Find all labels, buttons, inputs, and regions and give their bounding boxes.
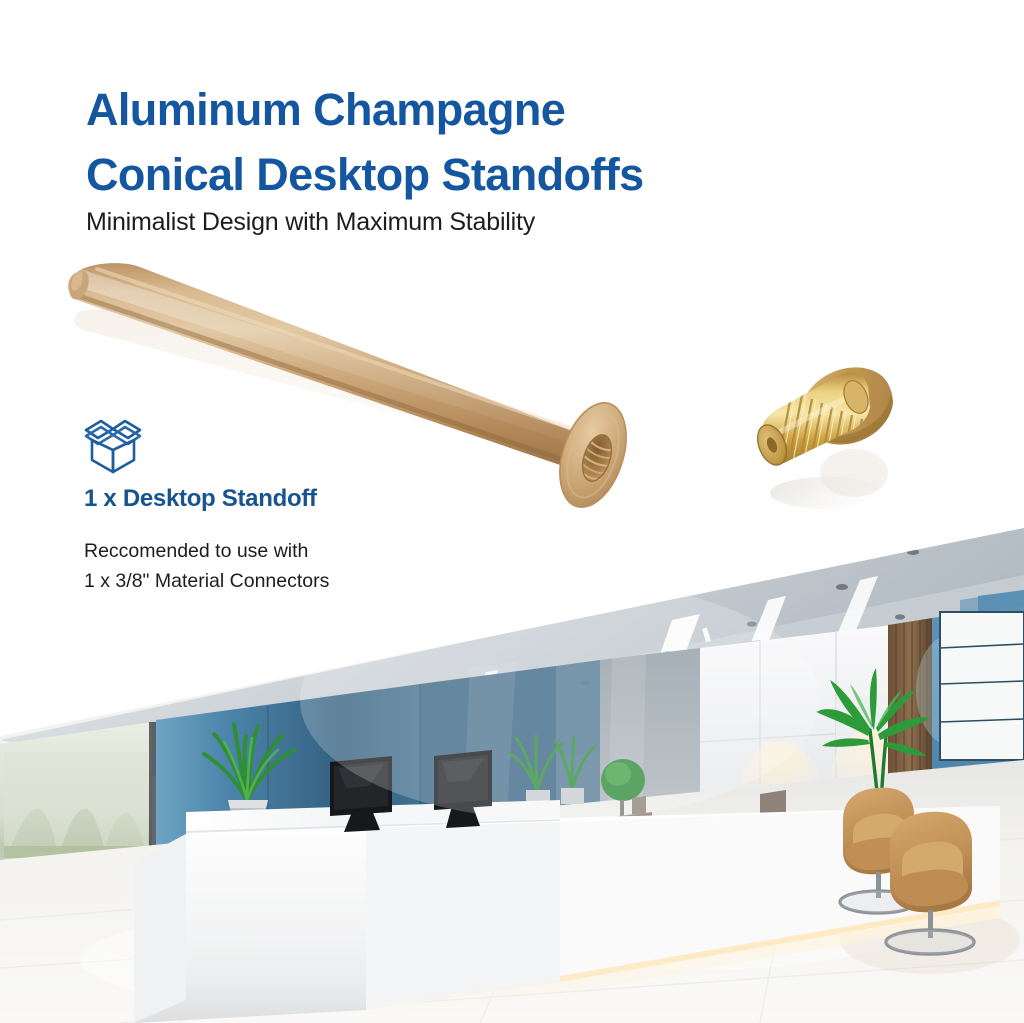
- headline-line-1: Aluminum Champagne: [86, 78, 826, 143]
- open-box-icon: [82, 417, 144, 475]
- kit-note-line-1: Reccomended to use with: [84, 536, 329, 566]
- kit-note-line-2: 1 x 3/8" Material Connectors: [84, 566, 329, 596]
- page-subtitle: Minimalist Design with Maximum Stability: [86, 208, 535, 237]
- material-connector-screw: [736, 345, 906, 520]
- kit-recommendation-note: Reccomended to use with 1 x 3/8" Materia…: [84, 536, 329, 596]
- page-title: Aluminum Champagne Conical Desktop Stand…: [86, 78, 826, 208]
- product-marketing-image: Aluminum Champagne Conical Desktop Stand…: [0, 0, 1024, 1023]
- headline-line-2: Conical Desktop Standoffs: [86, 143, 826, 208]
- kit-contents-title: 1 x Desktop Standoff: [84, 485, 317, 513]
